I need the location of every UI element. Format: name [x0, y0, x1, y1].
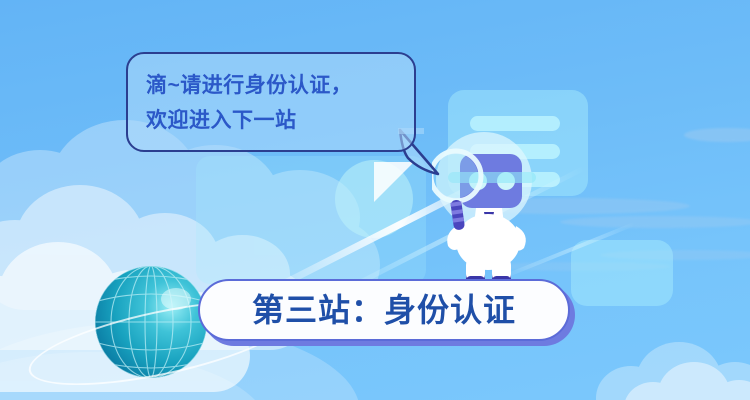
illustration-canvas: 滴~请进行身份认证， 欢迎进入下一站 第三站：身份认证 — [0, 0, 750, 400]
speech-bubble[interactable]: 滴~请进行身份认证， 欢迎进入下一站 — [126, 52, 416, 152]
speech-line-2: 欢迎进入下一站 — [146, 103, 352, 138]
globe-group — [92, 263, 210, 381]
title-banner[interactable]: 第三站：身份认证 — [198, 279, 570, 341]
speech-line-1: 滴~请进行身份认证， — [146, 68, 352, 103]
robot-astronaut — [432, 128, 544, 288]
cloud-wisp — [684, 128, 750, 142]
speech-bubble-text: 滴~请进行身份认证， 欢迎进入下一站 — [146, 68, 352, 138]
cloud-wisp — [560, 216, 750, 228]
title-banner-label: 第三站：身份认证 — [252, 294, 516, 326]
ui-panel-lower — [571, 240, 673, 306]
